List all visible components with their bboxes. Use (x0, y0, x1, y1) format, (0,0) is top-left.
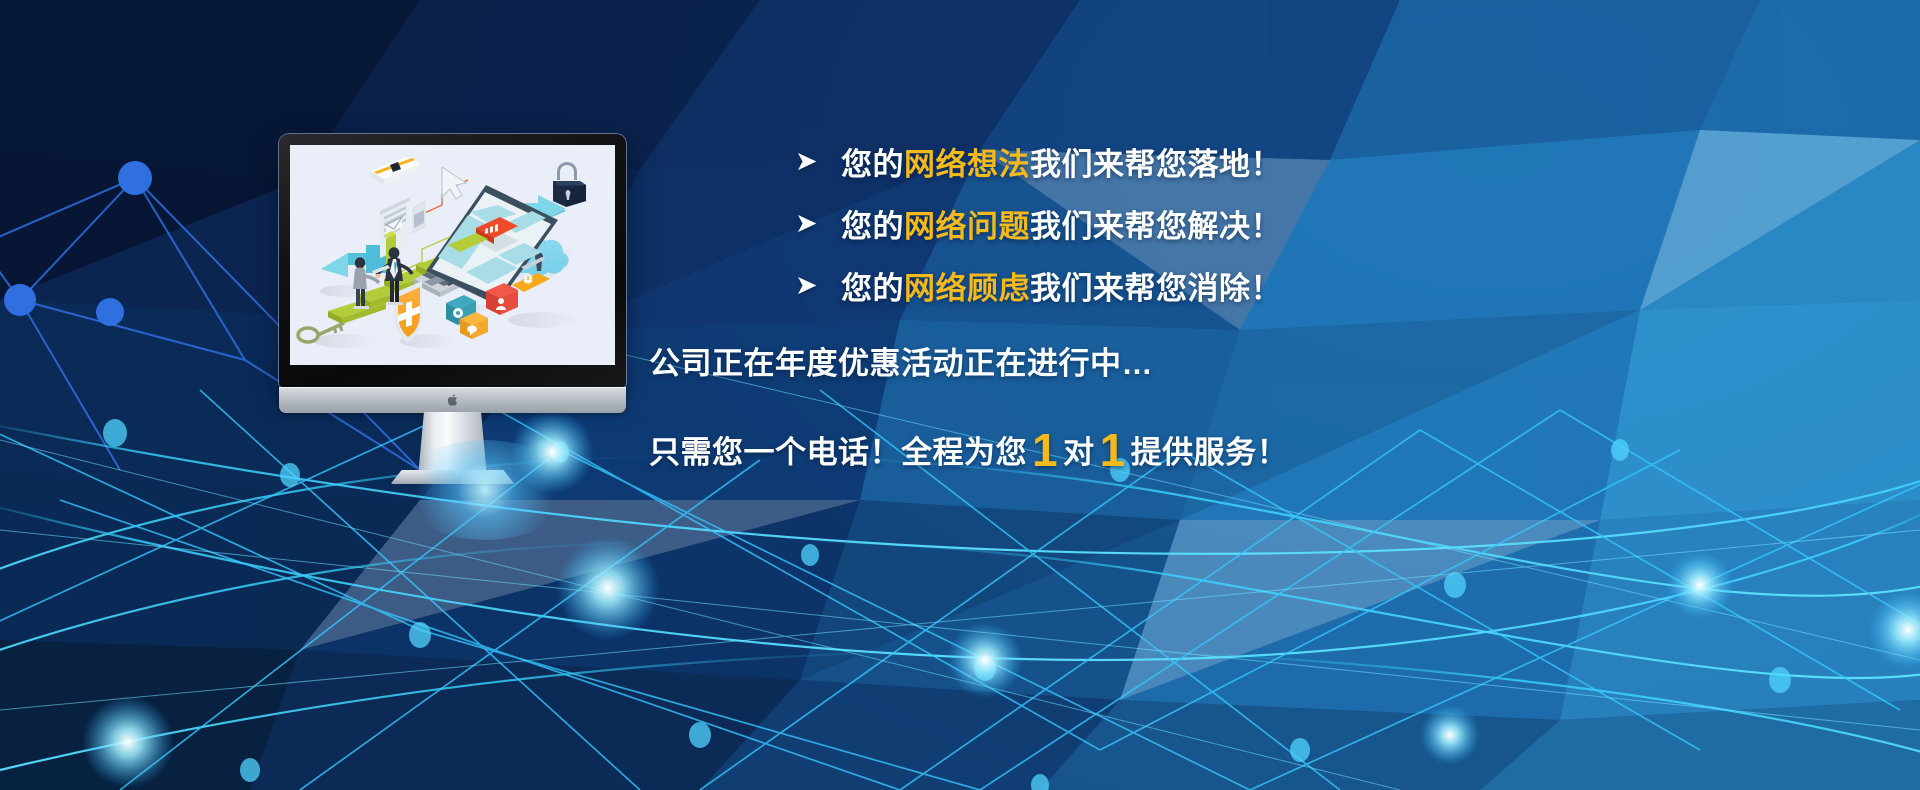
bullet-prefix: 您的 (841, 209, 904, 244)
bullet-row: ➤ 您的网络想法我们来帮您落地！ (795, 130, 1555, 192)
bullet-suffix: 我们来帮您消除！ (1030, 271, 1282, 306)
isometric-illustration (290, 145, 615, 365)
bullet-suffix: 我们来帮您解决！ (1030, 209, 1282, 244)
bullet-text: 您的网络想法我们来帮您落地！ (841, 139, 1282, 184)
bullet-row: ➤ 您的网络顾虑我们来帮您消除！ (795, 254, 1555, 316)
apple-display-monitor (279, 134, 626, 454)
promo-service-prefix: 只需您一个电话！全程为您 (649, 435, 1027, 470)
arrow-bullet-icon: ➤ (795, 148, 841, 175)
bullet-highlight: 网络顾虑 (904, 271, 1030, 306)
promo-line-activity: 公司正在年度优惠活动正在进行中… (649, 338, 1555, 383)
monitor-stand-base (391, 470, 515, 484)
promo-service-suffix: 提供服务！ (1131, 435, 1289, 470)
bullet-prefix: 您的 (841, 271, 904, 306)
bullet-highlight: 网络想法 (904, 147, 1030, 182)
arrow-bullet-icon: ➤ (795, 210, 841, 237)
monitor-screen (290, 145, 615, 365)
promo-line-service: 只需您一个电话！全程为您1对1提供服务！ (649, 423, 1555, 477)
bullet-suffix: 我们来帮您落地！ (1030, 147, 1282, 182)
promo-number-one-second: 1 (1095, 424, 1131, 476)
bullet-highlight: 网络问题 (904, 209, 1030, 244)
arrow-bullet-icon: ➤ (795, 272, 841, 299)
promo-service-mid: 对 (1063, 435, 1095, 470)
apple-logo-icon (447, 393, 459, 407)
bullet-text: 您的网络问题我们来帮您解决！ (841, 201, 1282, 246)
bullet-text: 您的网络顾虑我们来帮您消除！ (841, 263, 1282, 308)
monitor-bezel (279, 134, 626, 387)
promo-banner: ➤ 您的网络想法我们来帮您落地！ ➤ 您的网络问题我们来帮您解决！ ➤ 您的网络… (0, 0, 1920, 790)
promo-number-one-first: 1 (1027, 424, 1063, 476)
bullet-row: ➤ 您的网络问题我们来帮您解决！ (795, 192, 1555, 254)
bullet-prefix: 您的 (841, 147, 904, 182)
copy-block: ➤ 您的网络想法我们来帮您落地！ ➤ 您的网络问题我们来帮您解决！ ➤ 您的网络… (795, 130, 1555, 477)
monitor-stand-neck (419, 412, 487, 472)
